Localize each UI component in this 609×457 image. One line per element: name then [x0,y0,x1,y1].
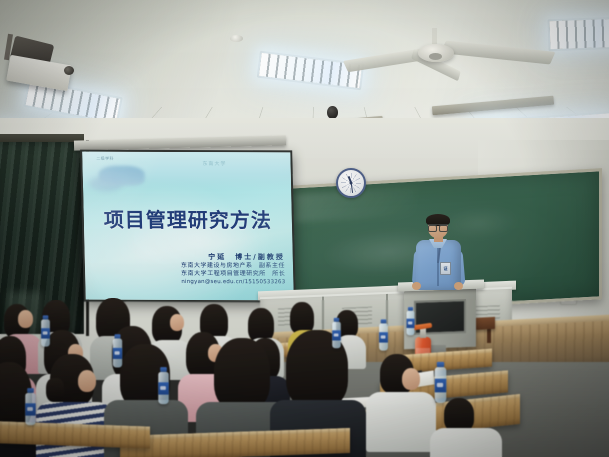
projector-lens-icon [64,66,74,75]
lecture-hall-photo: 二级学科 东南大学 项目管理研究方法 宁延 博士/副教授 东南大学建设与房地产系… [0,0,609,457]
water-bottle[interactable] [25,393,35,425]
water-bottle[interactable] [379,323,388,350]
stool-leg [487,329,491,343]
lecturer: 证 [414,216,464,294]
water-bottle[interactable] [407,311,415,335]
water-bottle[interactable] [435,367,447,403]
lecturer-badge: 证 [440,262,451,275]
slide-contact: ningyan@seu.edu.cn/15150533263 [181,279,285,287]
water-bottle[interactable] [332,322,341,349]
slide-corner-text: 二级学科 [96,156,114,162]
ceiling-light-panel [547,17,609,51]
lecturer-hand [412,282,421,290]
water-bottle[interactable] [158,372,168,404]
slide-watermark-text: 东南大学 [202,160,226,167]
lecturer-hand [454,282,463,290]
projection-screen[interactable]: 二级学科 东南大学 项目管理研究方法 宁延 博士/副教授 东南大学建设与房地产系… [80,150,296,303]
glasses-icon [428,224,448,230]
presentation-slide: 二级学科 东南大学 项目管理研究方法 宁延 博士/副教授 东南大学建设与房地产系… [82,152,294,301]
slide-title: 项目管理研究方法 [83,204,292,234]
slide-subtitle-block: 宁延 博士/副教授 东南大学建设与房地产系 副系主任 东南大学工程项目管理研究所… [181,253,286,286]
smoke-detector-icon [230,35,243,42]
ceiling-fan-icon [418,44,454,62]
water-bottle[interactable] [113,339,122,368]
water-bottle[interactable] [41,319,50,346]
wall-clock-icon [336,168,366,198]
